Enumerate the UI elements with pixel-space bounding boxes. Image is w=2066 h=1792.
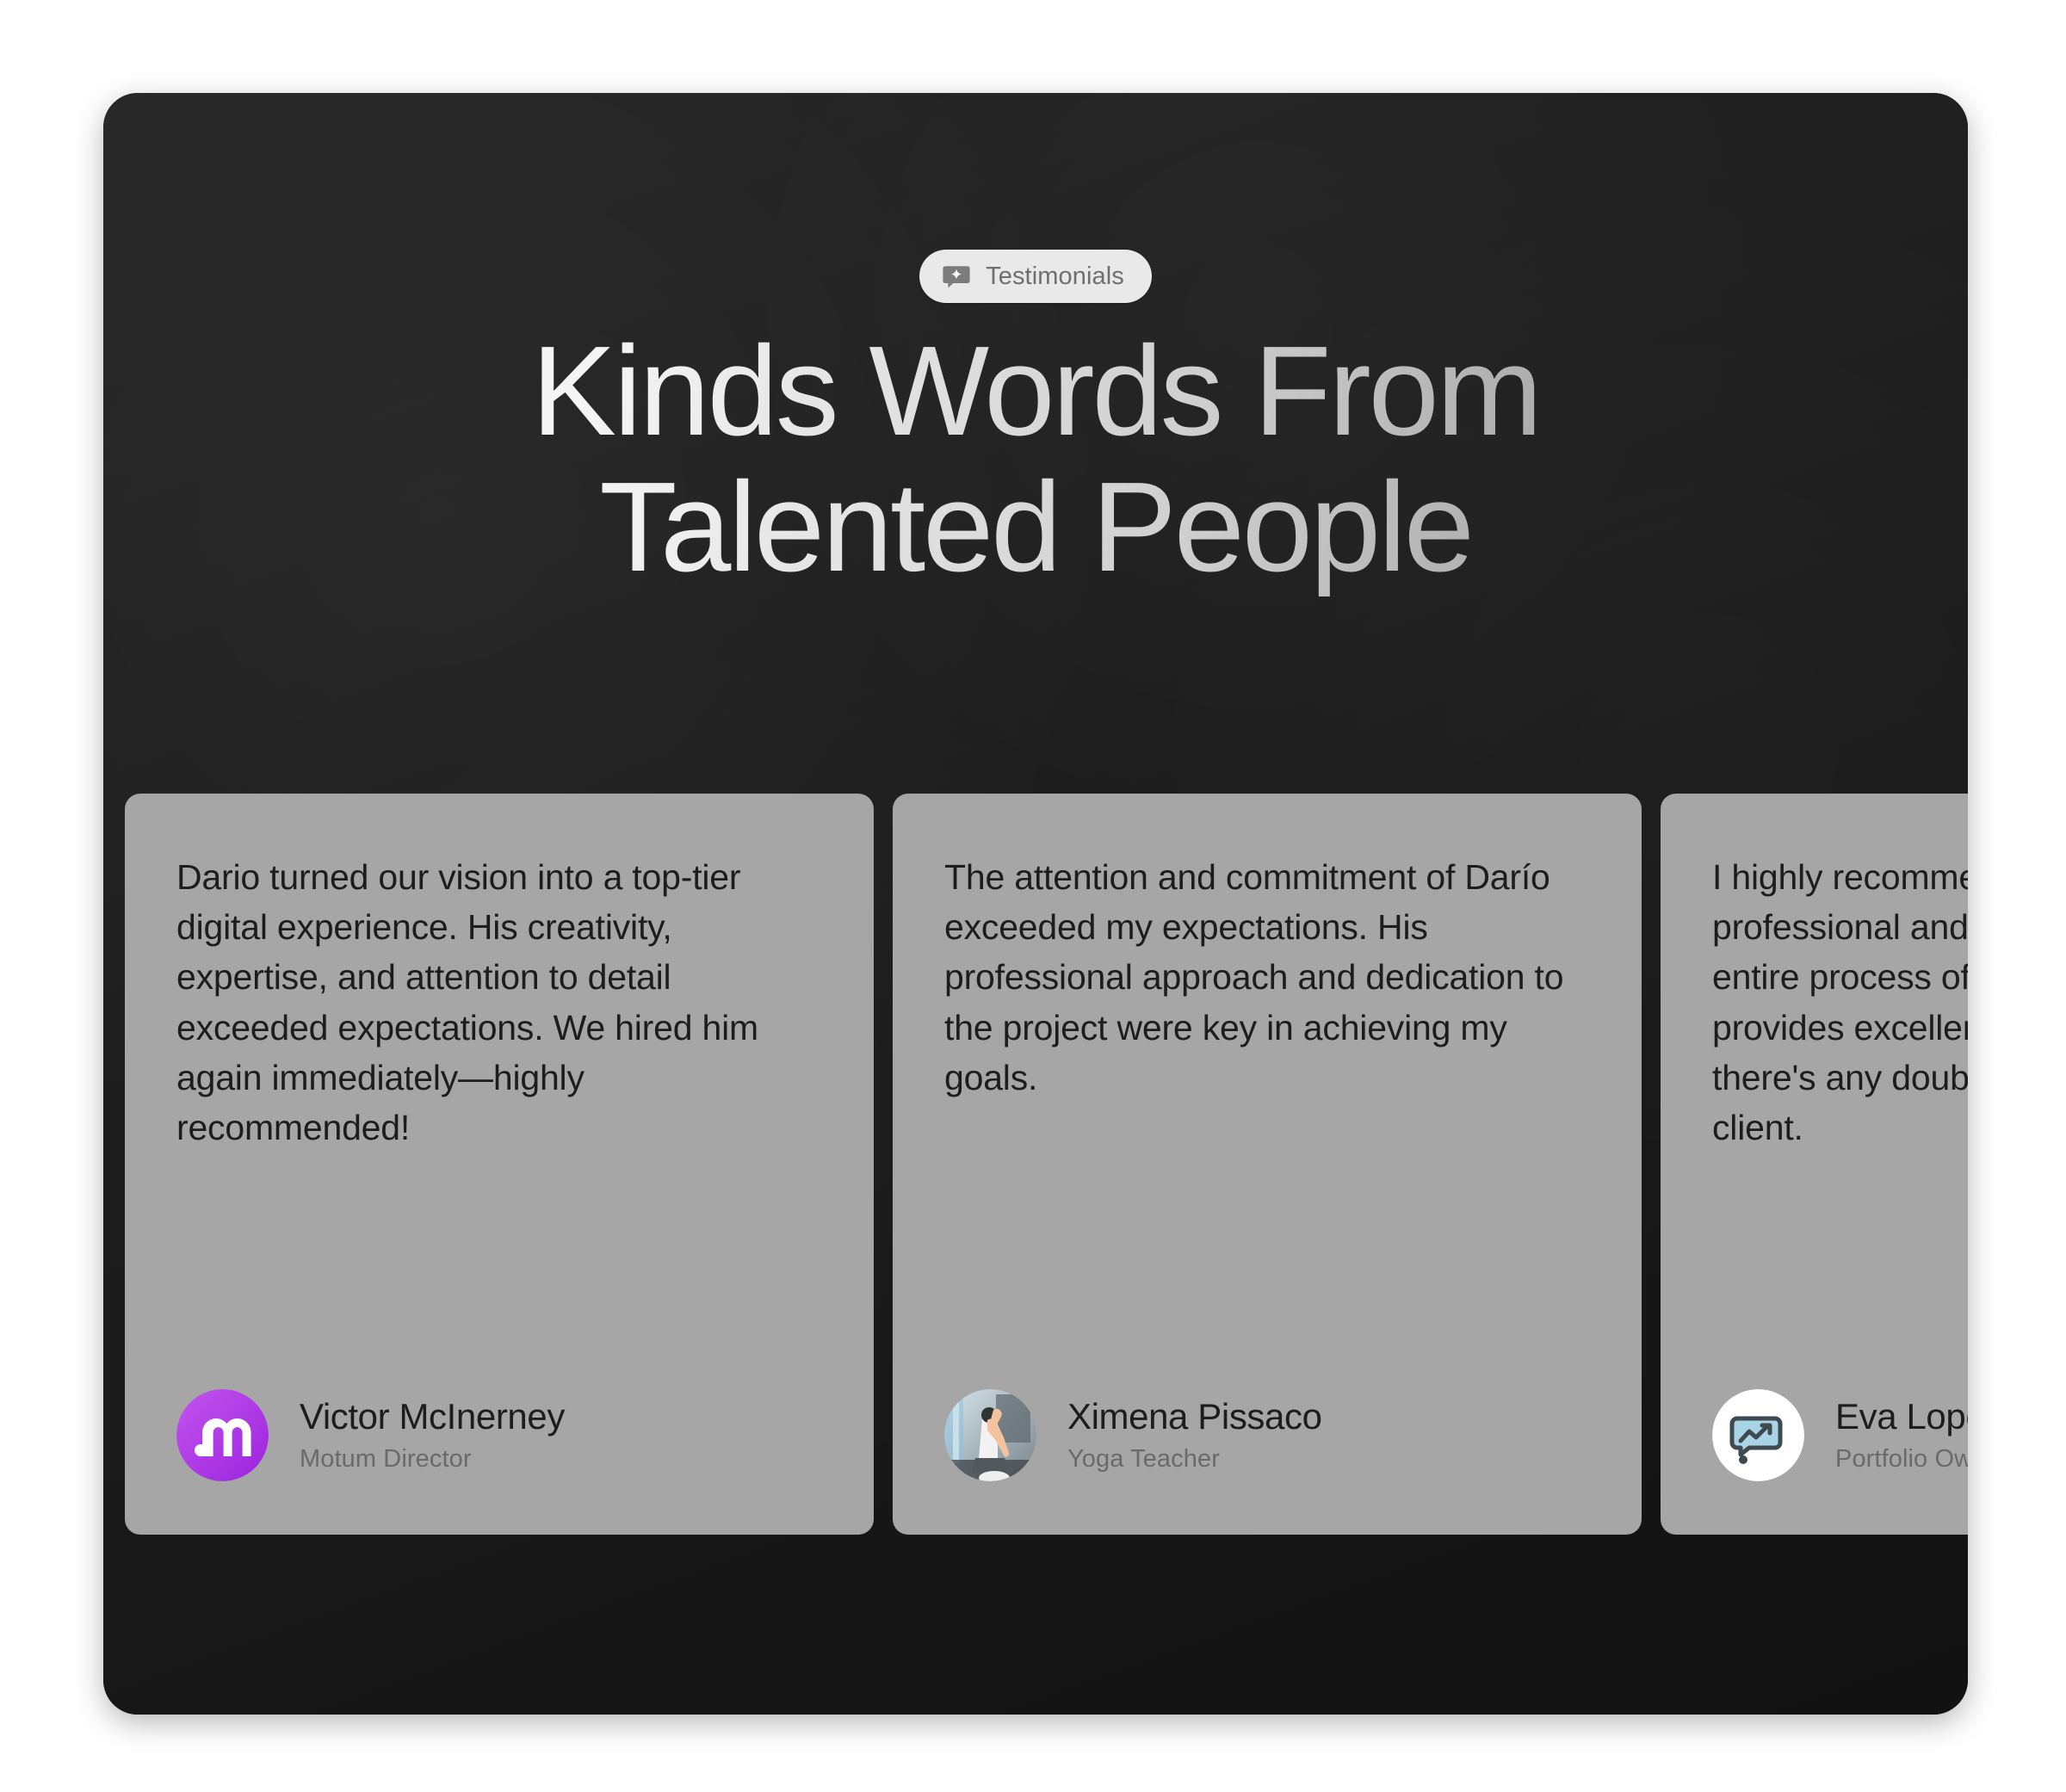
testimonial-quote: Dario turned our vision into a top-tier … [176,852,822,1152]
author-name: Victor McInerney [300,1394,565,1438]
testimonial-author: Ximena Pissaco Yoga Teacher [944,1389,1590,1481]
testimonials-section: Testimonials Kinds Words From Talented P… [103,93,1968,1715]
badge-row: Testimonials [103,250,1968,303]
author-meta: Victor McInerney Motum Director [300,1394,565,1476]
testimonial-author: Victor McInerney Motum Director [176,1389,822,1481]
testimonial-quote: The attention and commitment of Darío ex… [944,852,1590,1103]
page-title: Kinds Words From Talented People [103,324,1968,596]
page-title-line-1: Kinds Words From [207,324,1865,460]
author-name: Eva Lopez [1835,1394,1968,1438]
page-root: Testimonials Kinds Words From Talented P… [0,0,2066,1792]
testimonial-quote: I highly recommend his work! He is very … [1712,852,1968,1152]
section-content: Testimonials Kinds Words From Talented P… [103,93,1968,1715]
author-role: Portfolio Owner [1835,1443,1968,1476]
testimonial-card[interactable]: The attention and commitment of Darío ex… [893,794,1642,1535]
author-role: Yoga Teacher [1067,1443,1322,1476]
testimonial-card[interactable]: Dario turned our vision into a top-tier … [125,794,874,1535]
author-meta: Ximena Pissaco Yoga Teacher [1067,1394,1322,1476]
badge-label: Testimonials [986,264,1124,289]
testimonial-author: Eva Lopez Portfolio Owner [1712,1389,1968,1481]
author-role: Motum Director [300,1443,565,1476]
motum-logo-avatar [176,1389,269,1481]
page-title-line-2: Talented People [207,460,1865,596]
testimonials-badge[interactable]: Testimonials [919,250,1152,303]
yoga-photo-avatar [944,1389,1036,1481]
author-name: Ximena Pissaco [1067,1394,1322,1438]
testimonial-carousel[interactable]: Dario turned our vision into a top-tier … [125,794,1968,1535]
author-meta: Eva Lopez Portfolio Owner [1835,1394,1968,1476]
growth-chart-avatar [1712,1389,1804,1481]
testimonial-card[interactable]: I highly recommend his work! He is very … [1661,794,1968,1535]
chat-sparkle-icon [942,262,971,291]
